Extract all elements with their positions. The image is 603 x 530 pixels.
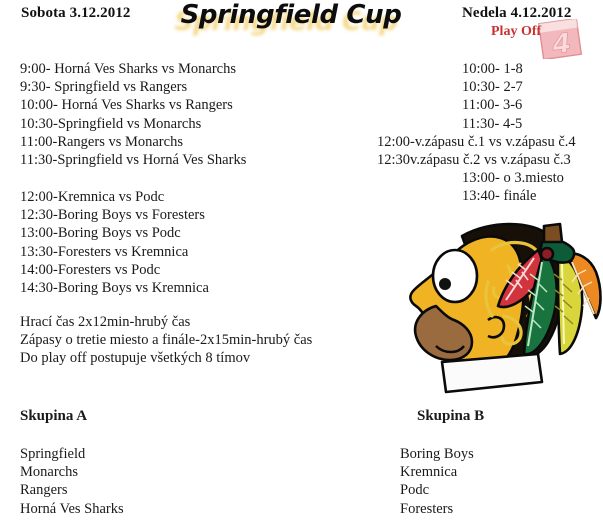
- match-row: 12:00-Kremnica vs Podc: [20, 188, 209, 206]
- note-row: Zápasy o tretie miesto a finále-2x15min-…: [20, 331, 312, 349]
- group-b-title: Skupina B: [417, 408, 484, 425]
- sunday-final-schedule: 13:00- o 3.miesto 13:40- finále: [462, 169, 564, 205]
- match-row: 12:30-Boring Boys vs Foresters: [20, 206, 209, 224]
- match-row: 10:30-Springfield vs Monarchs: [20, 115, 246, 133]
- tournament-rules-notes: Hrací čas 2x12min-hrubý čas Zápasy o tre…: [20, 313, 312, 368]
- match-row: 10:00- 1-8: [462, 60, 523, 78]
- match-row: 11:30- 4-5: [462, 115, 523, 133]
- match-row: 13:00-Boring Boys vs Podc: [20, 224, 209, 242]
- team-row: Boring Boys: [400, 445, 474, 463]
- match-row: 13:40- finále: [462, 187, 564, 205]
- play-off-label: Play Off: [491, 24, 541, 40]
- number-four-badge-icon: 4: [537, 19, 583, 59]
- match-row: 14:30-Boring Boys vs Kremnica: [20, 279, 209, 297]
- homer-blackhawks-logo-icon: [392, 214, 603, 406]
- team-row: Horná Ves Sharks: [20, 500, 124, 518]
- poster-title: Springfield Cup Springfield Cup: [176, 0, 406, 44]
- note-row: Do play off postupuje všetkých 8 tímov: [20, 349, 312, 367]
- match-row: 10:30- 2-7: [462, 78, 523, 96]
- poster-title-text: Springfield Cup: [176, 0, 406, 30]
- match-row: 12:30v.zápasu č.2 vs v.zápasu č.3: [377, 151, 576, 169]
- match-row: 11:00-Rangers vs Monarchs: [20, 133, 246, 151]
- team-row: Springfield: [20, 445, 124, 463]
- team-row: Rangers: [20, 481, 124, 499]
- team-row: Kremnica: [400, 463, 474, 481]
- poster-page: Sobota 3.12.2012 Springfield Cup Springf…: [0, 0, 603, 530]
- group-a-team-list: Springfield Monarchs Rangers Horná Ves S…: [20, 445, 124, 518]
- team-row: Podc: [400, 481, 474, 499]
- sunday-quarterfinal-schedule: 10:00- 1-8 10:30- 2-7 11:00- 3-6 11:30- …: [462, 60, 523, 133]
- group-b-team-list: Boring Boys Kremnica Podc Foresters: [400, 445, 474, 518]
- note-row: Hrací čas 2x12min-hrubý čas: [20, 313, 312, 331]
- team-row: Foresters: [400, 500, 474, 518]
- saturday-group-b-schedule: 12:00-Kremnica vs Podc 12:30-Boring Boys…: [20, 188, 209, 297]
- match-row: 14:00-Foresters vs Podc: [20, 261, 209, 279]
- saturday-group-a-schedule: 9:00- Horná Ves Sharks vs Monarchs 9:30-…: [20, 60, 246, 169]
- match-row: 11:30-Springfield vs Horná Ves Sharks: [20, 151, 246, 169]
- match-row: 10:00- Horná Ves Sharks vs Rangers: [20, 96, 246, 114]
- match-row: 12:00-v.zápasu č.1 vs v.zápasu č.4: [377, 133, 576, 151]
- team-row: Monarchs: [20, 463, 124, 481]
- match-row: 9:30- Springfield vs Rangers: [20, 78, 246, 96]
- saturday-date-heading: Sobota 3.12.2012: [21, 5, 131, 22]
- group-a-title: Skupina A: [20, 408, 87, 425]
- match-row: 11:00- 3-6: [462, 96, 523, 114]
- sunday-semifinal-schedule: 12:00-v.zápasu č.1 vs v.zápasu č.4 12:30…: [377, 133, 576, 169]
- match-row: 9:00- Horná Ves Sharks vs Monarchs: [20, 60, 246, 78]
- match-row: 13:00- o 3.miesto: [462, 169, 564, 187]
- match-row: 13:30-Foresters vs Kremnica: [20, 243, 209, 261]
